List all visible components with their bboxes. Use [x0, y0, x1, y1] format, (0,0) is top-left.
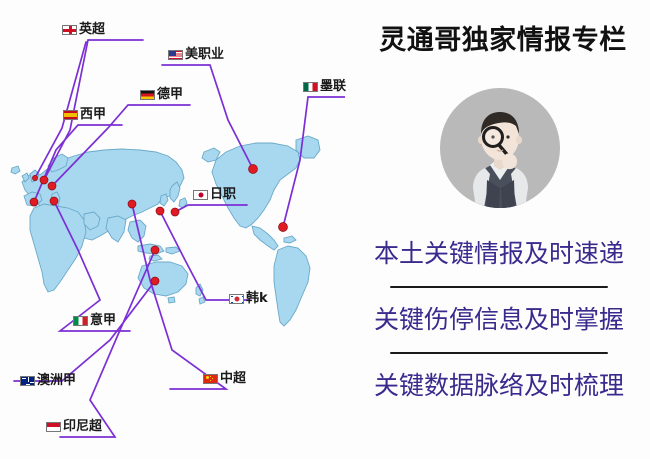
map-label-china[interactable]: 中超 [203, 372, 246, 385]
map-label-korea[interactable]: 韩k [229, 292, 268, 305]
tagline-divider-2 [390, 352, 608, 354]
tagline-1: 本土关键情报及时速递 [350, 239, 648, 269]
map-label-text: 中超 [220, 372, 246, 385]
mexico-flag-icon [303, 82, 318, 92]
detective-avatar-icon [440, 88, 560, 208]
map-label-text: 韩k [246, 292, 268, 305]
marker-england[interactable] [40, 176, 48, 184]
map-label-text: 印尼超 [63, 420, 102, 433]
spain-flag-icon [63, 110, 78, 120]
map-label-text: 澳洲甲 [37, 374, 76, 387]
map-label-text: 美职业 [185, 48, 224, 61]
map-landmasses [11, 136, 320, 326]
italy-flag-icon [73, 316, 88, 326]
avatar-circle [440, 88, 560, 208]
germany-flag-icon [140, 90, 155, 100]
map-label-text: 墨联 [320, 80, 346, 93]
marker-germany[interactable] [48, 182, 56, 190]
map-label-text: 日职 [210, 188, 236, 201]
marker-italy[interactable] [50, 197, 58, 205]
indonesia-flag-icon [46, 422, 61, 432]
korea-flag-icon [229, 294, 244, 304]
usa-flag-icon [168, 50, 183, 60]
info-panel: 灵通哥独家情报专栏 [345, 0, 650, 459]
marker-japan[interactable] [171, 208, 179, 216]
marker-mexico[interactable] [279, 223, 288, 232]
map-label-text: 意甲 [90, 314, 116, 327]
world-map-svg [0, 0, 345, 459]
marker-usa[interactable] [249, 165, 258, 174]
tagline-divider-1 [390, 286, 608, 288]
tagline-2: 关键伤停信息及时掌握 [350, 305, 648, 335]
marker-indonesia[interactable] [151, 246, 159, 254]
map-label-italy[interactable]: 意甲 [73, 314, 116, 327]
tagline-3: 关键数据脉络及时梳理 [350, 371, 648, 401]
marker-korea[interactable] [156, 207, 164, 215]
map-label-japan[interactable]: 日职 [193, 188, 236, 201]
marker-ireland[interactable] [32, 175, 37, 180]
map-label-text: 英超 [79, 23, 105, 36]
page-title: 灵通哥独家情报专栏 [363, 25, 643, 57]
map-label-text: 德甲 [157, 88, 183, 101]
map-label-mexico[interactable]: 墨联 [303, 80, 346, 93]
japan-flag-icon [193, 190, 208, 200]
map-label-australia[interactable]: 澳洲甲 [20, 374, 76, 387]
world-map-panel: 英超 美职业 德甲 墨联 西甲 日职 韩k 意甲 [0, 0, 345, 459]
marker-china[interactable] [128, 200, 136, 208]
england-flag-icon [62, 25, 77, 35]
marker-australia[interactable] [151, 277, 159, 285]
map-label-spain[interactable]: 西甲 [63, 108, 106, 121]
china-flag-icon [203, 374, 218, 384]
australia-flag-icon [20, 376, 35, 386]
map-label-germany[interactable]: 德甲 [140, 88, 183, 101]
marker-spain[interactable] [30, 198, 38, 206]
map-label-england[interactable]: 英超 [62, 23, 105, 36]
map-label-indonesia[interactable]: 印尼超 [46, 420, 102, 433]
map-label-text: 西甲 [80, 108, 106, 121]
map-label-usa-mls[interactable]: 美职业 [168, 48, 224, 61]
avatar [440, 88, 560, 208]
poster-root: 英超 美职业 德甲 墨联 西甲 日职 韩k 意甲 [0, 0, 650, 459]
